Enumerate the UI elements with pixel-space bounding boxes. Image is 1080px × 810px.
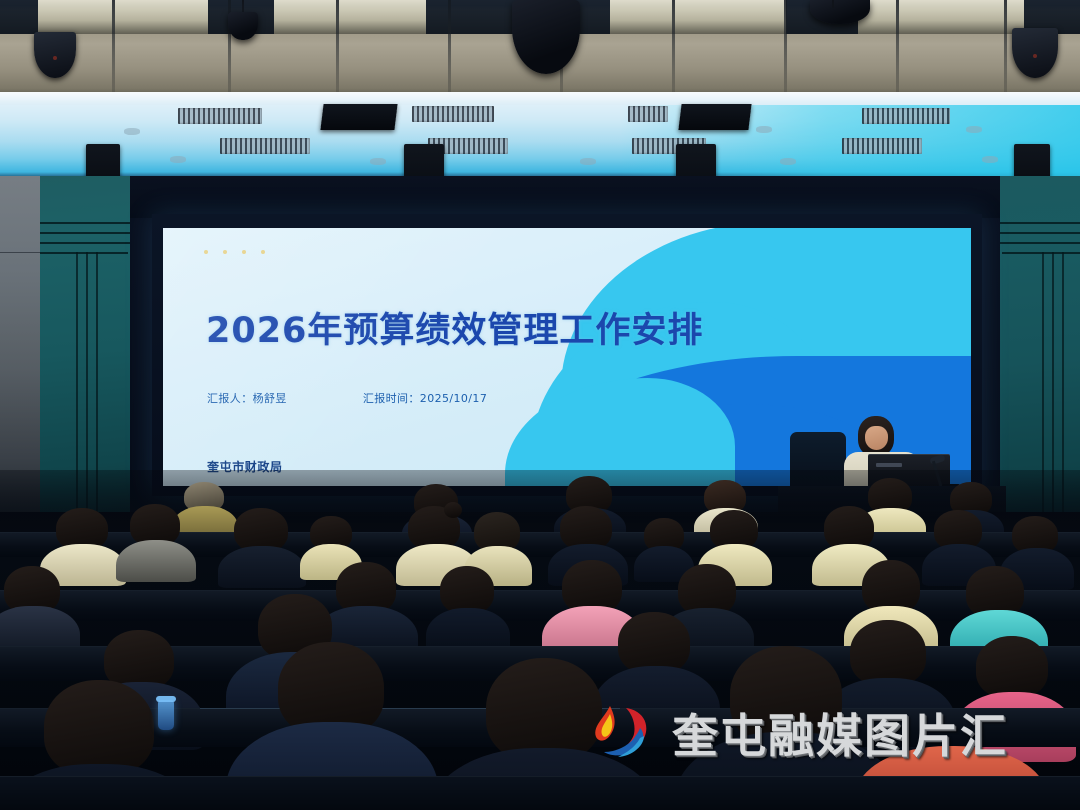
cup-lid-icon [156,696,176,702]
light-lens-icon [1033,54,1037,58]
ceiling-beam [672,0,675,96]
ceiling-downlight [780,158,796,165]
person-head [976,636,1048,698]
presenter-face [865,426,888,450]
audience-person [124,504,186,562]
slide-title: 2026年预算绩效管理工作安排 [206,302,703,353]
ceiling-beam [1004,0,1007,96]
person-head [440,566,494,614]
panel-groove [1000,242,1080,244]
ceiling-beam [336,0,339,96]
air-vent [842,138,922,154]
person-head [730,646,842,746]
ceiling-slot [858,0,1024,34]
ceiling-downlight [370,158,386,165]
ceiling-downlight [580,158,596,165]
ceiling-beam [112,0,115,96]
person-head [618,612,690,674]
light-lens-icon [53,56,57,60]
panel-groove [40,242,132,244]
audience-person [228,508,294,566]
audience-person [1008,516,1064,572]
ceiling-slot [610,0,786,34]
audience-person [960,566,1032,644]
ceiling-slot [0,0,38,34]
person-shoulders [116,540,196,582]
air-vent [220,138,310,154]
person-head [486,658,602,762]
slide-presenter-label: 汇报人：杨舒昱 [207,390,287,406]
decor-dot-icon [261,250,265,254]
air-vent [862,108,950,124]
ceiling-slot [274,0,426,34]
decor-dot-icon [242,250,246,254]
decor-dot-icon [204,250,208,254]
audience-person [470,512,524,568]
panel-groove [1000,232,1080,234]
audience-person [640,518,688,568]
audience-person [820,506,880,566]
air-vent [628,106,668,122]
audience-person [404,506,466,566]
ceiling-beam [448,0,451,96]
person-hair-bun [444,502,462,518]
front-desk-ledge [0,776,1080,810]
audience-person [556,506,618,566]
air-vent [178,108,262,124]
ceiling-downlight [982,156,998,163]
ceiling-downlight [124,128,140,135]
wall-panel-teal-right [1000,176,1080,512]
audience-person [50,508,114,566]
ceiling-slot [38,0,208,34]
ceiling-downlight [170,156,186,163]
laptop-logo-icon [876,463,902,467]
person-head [44,680,154,776]
panel-groove [1002,252,1080,254]
ceiling-beam [784,0,787,96]
person-head [850,620,926,686]
audience-area [0,470,1080,810]
conference-hall-photo: 2026年预算绩效管理工作安排 汇报人：杨舒昱 汇报时间：2025/10/17 … [0,0,1080,810]
air-vent [412,106,494,122]
audience-person [706,510,764,568]
audience-person [436,566,500,636]
panel-groove [1000,222,1080,224]
panel-groove [40,222,132,224]
person-shoulders [218,546,306,588]
decor-dot-icon [223,250,227,254]
soffit-lip [0,92,1080,105]
slide-meta-row: 汇报人：杨舒昱 汇报时间：2025/10/17 [207,390,487,406]
projector-housing [320,104,397,130]
projector-housing [678,104,751,130]
screen-frame-top [130,176,1010,218]
slide-datetime-label: 汇报时间：2025/10/17 [363,390,487,406]
ceiling-beam [896,0,899,96]
audience-person [930,510,986,568]
audience-person [612,612,698,716]
panel-groove [40,252,128,254]
slide-decor-dots [204,250,265,254]
water-cup [158,700,174,730]
audience-person [306,516,356,566]
ceiling-downlight [756,126,772,133]
speaker-rod [832,0,834,8]
ceiling-downlight [966,126,982,133]
audience-person [0,566,70,636]
panel-groove [40,232,132,234]
